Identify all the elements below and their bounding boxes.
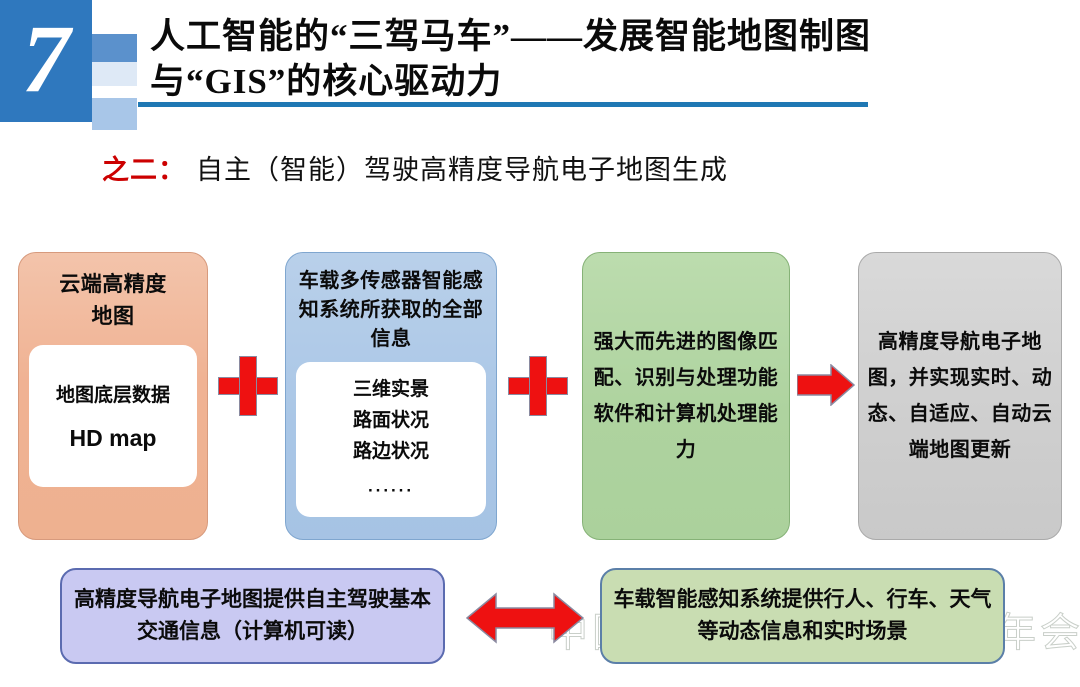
- flow-box-sensors-title: 车载多传感器智能感知系统所获取的全部信息: [296, 267, 486, 354]
- flow-box-sensors-inner: 三维实景 路面状况 路边状况 ······: [296, 362, 486, 517]
- title-underline-rule: [138, 102, 868, 107]
- header-stripe-4: [92, 98, 137, 130]
- flow-box-sensors: 车载多传感器智能感知系统所获取的全部信息 三维实景 路面状况 路边状况 ····…: [285, 252, 497, 540]
- plus-icon-1: [218, 356, 276, 414]
- flow-box-processing-title: 强大而先进的图像匹配、识别与处理功能软件和计算机处理能力: [593, 324, 779, 468]
- subtitle: 之二： 自主（智能）驾驶高精度导航电子地图生成: [102, 148, 728, 187]
- cloud-map-inner-line-2: HD map: [29, 425, 197, 452]
- arrow-double-icon: [466, 592, 584, 644]
- slide-number-text: 7: [0, 0, 92, 122]
- sensors-inner-line-1: 三维实景: [296, 376, 486, 403]
- subtitle-prefix: 之二：: [102, 148, 186, 187]
- subtitle-text: 自主（智能）驾驶高精度导航电子地图生成: [196, 148, 728, 187]
- header-stripe-1: [92, 34, 137, 62]
- bottom-box-map-info-text: 高精度导航电子地图提供自主驾驶基本交通信息（计算机可读）: [62, 584, 443, 648]
- plus-icon-2: [508, 356, 566, 414]
- flow-box-cloud-map: 云端高精度 地图 地图底层数据 HD map: [18, 252, 208, 540]
- bottom-box-sense-info-text: 车载智能感知系统提供行人、行车、天气等动态信息和实时场景: [602, 584, 1003, 648]
- flow-box-output: 高精度导航电子地图，并实现实时、动态、自适应、自动云端地图更新: [858, 252, 1062, 540]
- flow-box-processing: 强大而先进的图像匹配、识别与处理功能软件和计算机处理能力: [582, 252, 790, 540]
- arrow-right-icon: [797, 364, 855, 406]
- slide-header: 7 人工智能的“三驾马车”——发展智能地图制图与“GIS”的核心驱动力: [0, 0, 1080, 130]
- header-stripe-2: [92, 62, 137, 86]
- bottom-box-sense-info: 车载智能感知系统提供行人、行车、天气等动态信息和实时场景: [600, 568, 1005, 664]
- cloud-map-inner-line-1: 地图底层数据: [29, 380, 197, 407]
- slide-number-badge: 7: [0, 0, 92, 122]
- sensors-inner-line-2: 路面状况: [296, 407, 486, 434]
- flow-box-cloud-map-inner: 地图底层数据 HD map: [29, 345, 197, 487]
- flow-box-cloud-map-title: 云端高精度 地图: [29, 269, 197, 333]
- flow-box-output-title: 高精度导航电子地图，并实现实时、动态、自适应、自动云端地图更新: [867, 324, 1053, 468]
- header-stripe-3: [92, 86, 137, 98]
- sensors-inner-line-3: 路边状况: [296, 438, 486, 465]
- bottom-box-map-info: 高精度导航电子地图提供自主驾驶基本交通信息（计算机可读）: [60, 568, 445, 664]
- page-title: 人工智能的“三驾马车”——发展智能地图制图与“GIS”的核心驱动力: [150, 14, 1030, 104]
- sensors-inner-ellipsis: ······: [296, 477, 486, 504]
